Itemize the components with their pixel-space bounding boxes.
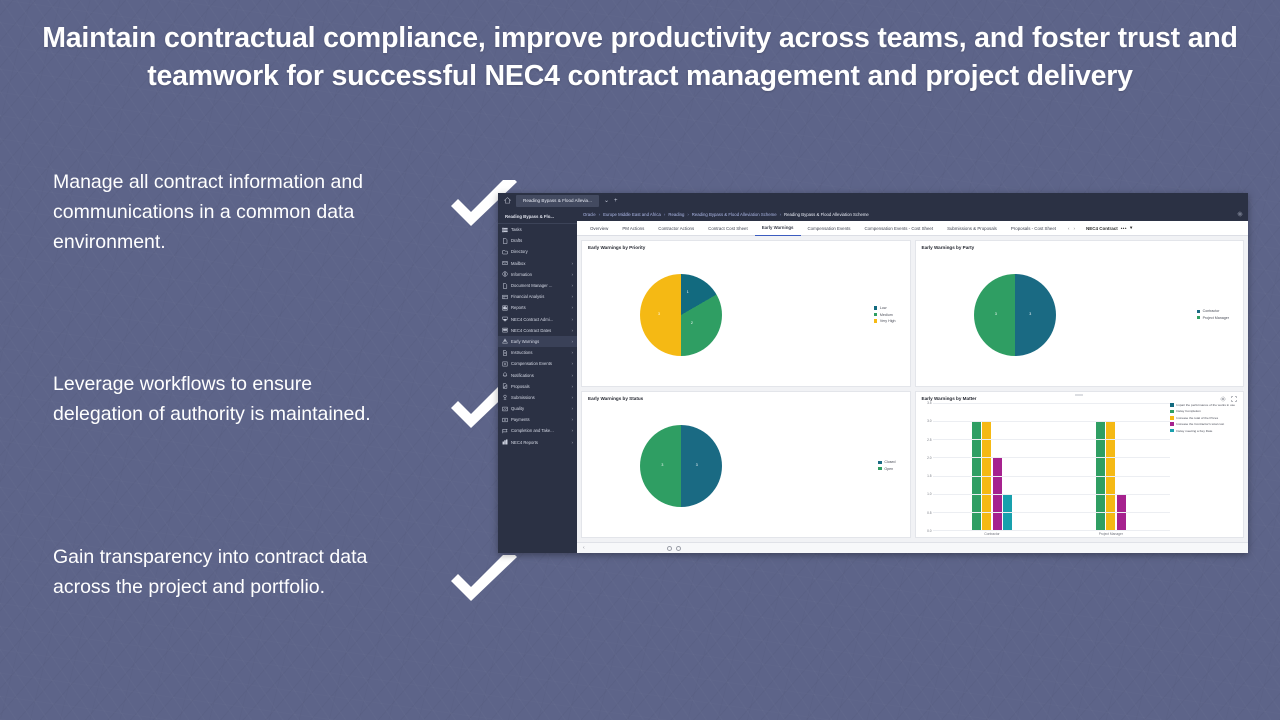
sidebar-item-quality[interactable]: Quality› xyxy=(498,403,577,414)
legend-item[interactable]: Medium xyxy=(874,313,896,317)
legend-swatch xyxy=(878,467,882,471)
bullet-list: Manage all contract information and comm… xyxy=(53,168,473,407)
sidebar-item-label: Completion and Take... xyxy=(511,428,569,433)
legend-label: Project Manager xyxy=(1203,316,1229,320)
gridline xyxy=(933,512,1171,513)
legend-label: Medium xyxy=(880,313,893,317)
chevron-right-icon[interactable]: › xyxy=(572,283,574,288)
sidebar-item-label: Reports xyxy=(511,305,569,310)
legend-swatch xyxy=(874,319,878,323)
collapse-left-icon[interactable]: ‹ xyxy=(583,545,585,551)
home-icon[interactable] xyxy=(504,197,511,204)
breadcrumb-separator: › xyxy=(780,212,781,217)
status-bar-icons xyxy=(667,546,681,551)
gridline xyxy=(933,421,1171,422)
breadcrumb-item-current: Reading Bypass & Flood Alleviation Schem… xyxy=(784,212,869,217)
sidebar-item-label: Directory xyxy=(511,249,573,254)
y-axis-tick: 0.5 xyxy=(927,511,931,515)
legend-swatch xyxy=(874,313,878,317)
sidebar-item-label: Document Manager ... xyxy=(511,283,569,288)
sidebar-item-proposals[interactable]: Proposals› xyxy=(498,381,577,392)
legend-item[interactable]: Delay Completion xyxy=(1170,409,1235,413)
legend-item[interactable]: Closed xyxy=(878,460,895,464)
legend-item[interactable]: Open xyxy=(878,467,895,471)
chevron-right-icon[interactable]: › xyxy=(572,328,574,333)
legend-priority: Low Medium Very High xyxy=(874,306,896,323)
chevron-right-icon[interactable]: › xyxy=(572,305,574,310)
sidebar-item-document-manager[interactable]: Document Manager ...› xyxy=(498,280,577,291)
y-axis: 0.00.51.01.52.02.53.03.5 xyxy=(922,403,933,531)
chevron-right-icon[interactable]: › xyxy=(572,428,574,433)
gear-icon[interactable] xyxy=(1220,396,1226,404)
legend-item[interactable]: Increase the total of the Prices xyxy=(1170,416,1235,420)
chevron-right-icon[interactable]: › xyxy=(572,350,574,355)
legend-label: Low xyxy=(880,306,887,310)
tab-submissions-proposals[interactable]: Submissions & Proposals xyxy=(940,221,1004,236)
gear-icon[interactable] xyxy=(1237,211,1243,217)
legend-label: Open xyxy=(884,467,893,471)
legend-swatch xyxy=(1197,310,1201,314)
sidebar-project[interactable]: Reading Bypass & Flo... xyxy=(498,211,577,224)
legend-swatch xyxy=(1170,403,1174,407)
mailbox-icon xyxy=(502,260,508,266)
legend-label: Delay meeting a Key Date xyxy=(1176,429,1212,433)
sidebar-item-financial-analysis[interactable]: Financial Analysis› xyxy=(498,291,577,302)
list-item: Leverage workflows to ensure delegation … xyxy=(53,370,473,430)
nec4-reports-icon xyxy=(502,439,508,445)
legend-label: Increase the total of the Prices xyxy=(1176,416,1218,420)
y-axis-tick: 3.0 xyxy=(927,419,931,423)
sidebar-item-nec4-reports[interactable]: NEC4 Reports› xyxy=(498,437,577,448)
gridline xyxy=(933,403,1171,404)
sidebar-item-label: NEC4 Contract Dates xyxy=(511,328,569,333)
tab-compensation-events-cost-sheet[interactable]: Compensation Events - Cost Sheet xyxy=(857,221,940,236)
reports-icon xyxy=(502,305,508,311)
sidebar-item-submissions[interactable]: Submissions› xyxy=(498,392,577,403)
tasks-icon xyxy=(502,227,508,233)
tab-proposals-cost-sheet[interactable]: Proposals - Cost Sheet xyxy=(1004,221,1063,236)
expand-icon[interactable] xyxy=(1231,396,1237,404)
card-early-warnings-by-priority: Early Warnings by Priority 1 2 3 Low Med… xyxy=(581,240,911,387)
breadcrumb-item[interactable]: Europe Middle East and Africa xyxy=(603,212,661,217)
card-early-warnings-by-party: Early Warnings by Party 3 3 Contractor P… xyxy=(915,240,1245,387)
sidebar-item-label: Early Warnings xyxy=(511,339,569,344)
sidebar-item-label: Drafts xyxy=(511,238,573,243)
contract-admin-icon xyxy=(502,316,508,322)
chevron-right-icon[interactable]: › xyxy=(572,417,574,422)
pie-slice-label: 2 xyxy=(691,321,693,325)
sidebar-item-label: Mailbox xyxy=(511,261,569,266)
y-axis-tick: 1.0 xyxy=(927,492,931,496)
sidebar-item-label: Compensation Events xyxy=(511,361,569,366)
legend-item[interactable]: Contractor xyxy=(1197,309,1229,313)
breadcrumb-separator: › xyxy=(687,212,688,217)
sidebar-item-payments[interactable]: Payments› xyxy=(498,414,577,425)
chevron-down-icon[interactable]: ⌄ xyxy=(604,198,609,204)
card-early-warnings-by-matter: Early Warnings by Matter 0.00.51.01.52.0… xyxy=(915,391,1245,538)
sidebar-item-notifications[interactable]: Notifications› xyxy=(498,369,577,380)
legend-party: Contractor Project Manager xyxy=(1197,309,1229,319)
y-axis-tick: 0.0 xyxy=(927,529,931,533)
chevron-right-icon[interactable]: › xyxy=(572,361,574,366)
pie-chart-priority[interactable]: 1 2 3 xyxy=(640,274,722,356)
breadcrumb-separator: › xyxy=(664,212,665,217)
information-icon xyxy=(502,271,508,277)
bullet-text: Manage all contract information and comm… xyxy=(53,168,403,257)
application-screenshot: Reading Bypass & Flood Allevia... ⌄ + Re… xyxy=(498,193,1248,553)
legend-item[interactable]: Very High xyxy=(874,319,896,323)
gridline xyxy=(933,476,1171,477)
legend-swatch xyxy=(1170,410,1174,414)
financial-analysis-icon xyxy=(502,294,508,300)
y-axis-tick: 2.0 xyxy=(927,456,931,460)
sidebar-item-label: NEC4 Reports xyxy=(511,440,569,445)
chevron-right-icon[interactable]: › xyxy=(572,440,574,445)
status-bar: ‹ xyxy=(577,542,1248,553)
tab-bar: OverviewPM ActionsContractor ActionsCont… xyxy=(577,221,1248,236)
ellipsis-icon[interactable]: ••• xyxy=(1121,226,1127,231)
legend-swatch xyxy=(1170,422,1174,426)
chevron-right-icon[interactable]: › xyxy=(572,384,574,389)
gridline xyxy=(933,457,1171,458)
chevron-right-icon[interactable]: › xyxy=(572,317,574,322)
sidebar-item-reports[interactable]: Reports› xyxy=(498,302,577,313)
breadcrumb-item[interactable]: Reading xyxy=(668,212,684,217)
tab-early-warnings[interactable]: Early Warnings xyxy=(755,221,801,236)
legend-label: Contractor xyxy=(1203,309,1220,313)
tab-contractor-actions[interactable]: Contractor Actions xyxy=(651,221,701,236)
legend-swatch xyxy=(1197,316,1201,320)
quality-icon xyxy=(502,406,508,412)
legend-label: Increase the Contractor's total cost xyxy=(1176,422,1224,426)
document-manager-icon xyxy=(502,283,508,289)
compensation-events-icon xyxy=(502,361,508,367)
drafts-icon xyxy=(502,238,508,244)
gridline xyxy=(933,439,1171,440)
chevron-right-icon[interactable]: › xyxy=(572,339,574,344)
slide-title: Maintain contractual compliance, improve… xyxy=(24,20,1256,95)
sidebar-item-label: Proposals xyxy=(511,384,569,389)
browser-tab-bar: Reading Bypass & Flood Allevia... ⌄ + xyxy=(498,193,1248,208)
legend-swatch xyxy=(874,306,878,310)
pie-slice-label: 3 xyxy=(1029,312,1031,316)
pie-chart-status[interactable]: 3 3 xyxy=(640,425,722,507)
sidebar-item-nec4-contract-dates[interactable]: NEC4 Contract Dates› xyxy=(498,325,577,336)
bar-chart-matter[interactable]: 0.00.51.01.52.02.53.03.5 ContractorProje… xyxy=(922,403,1171,531)
legend-label: Closed xyxy=(884,460,895,464)
legend-item[interactable]: Increase the Contractor's total cost xyxy=(1170,422,1235,426)
gridline xyxy=(933,530,1171,531)
notifications-icon xyxy=(502,372,508,378)
list-item: Gain transparency into contract data acr… xyxy=(53,543,473,603)
card-title: Early Warnings by Matter xyxy=(922,396,1238,401)
content-area: Oracle › Europe Middle East and Africa ›… xyxy=(577,208,1248,553)
legend-label: Delay Completion xyxy=(1176,409,1200,413)
pie-chart-party[interactable]: 3 3 xyxy=(974,274,1056,356)
pie-slice-label: 3 xyxy=(658,312,660,316)
proposals-icon xyxy=(502,383,508,389)
pie-slice-label: 1 xyxy=(687,290,689,294)
sidebar-item-mailbox[interactable]: Mailbox› xyxy=(498,258,577,269)
legend-status: Closed Open xyxy=(878,460,895,470)
chevron-right-icon[interactable]: › xyxy=(572,373,574,378)
breadcrumb-separator: › xyxy=(599,212,600,217)
submissions-icon xyxy=(502,394,508,400)
legend-swatch xyxy=(1170,429,1174,433)
check-icon xyxy=(447,555,521,607)
bullet-text: Leverage workflows to ensure delegation … xyxy=(53,370,403,430)
legend-label: Very High xyxy=(880,319,896,323)
directory-icon xyxy=(502,249,508,255)
legend-item[interactable]: Project Manager xyxy=(1197,316,1229,320)
caret-down-icon[interactable]: ▾ xyxy=(1130,225,1132,231)
chevron-right-icon[interactable]: › xyxy=(572,406,574,411)
plus-icon[interactable]: + xyxy=(614,198,618,204)
chevron-right-icon[interactable]: › xyxy=(1073,226,1074,231)
card-early-warnings-by-status: Early Warnings by Status 3 3 Closed Open xyxy=(581,391,911,538)
sidebar-item-tasks[interactable]: Tasks xyxy=(498,224,577,235)
chevron-right-icon[interactable]: › xyxy=(572,261,574,266)
legend-matter: Impair the performance of the works in u… xyxy=(1170,403,1235,531)
tab-compensation-events[interactable]: Compensation Events xyxy=(801,221,858,236)
sidebar-item-label: Notifications xyxy=(511,373,569,378)
circle-icon[interactable] xyxy=(667,546,672,551)
list-item: Manage all contract information and comm… xyxy=(53,168,473,257)
browser-tab[interactable]: Reading Bypass & Flood Allevia... xyxy=(516,195,599,207)
pie-slice-label: 3 xyxy=(661,463,663,467)
x-axis-label: Contractor xyxy=(933,532,1052,536)
sidebar-item-drafts[interactable]: Drafts xyxy=(498,235,577,246)
chevron-left-icon[interactable]: ‹ xyxy=(1068,226,1069,231)
payments-icon xyxy=(502,417,508,423)
sidebar-item-label: Tasks xyxy=(511,227,573,232)
legend-swatch xyxy=(1170,416,1174,420)
y-axis-tick: 3.5 xyxy=(927,401,931,405)
sidebar-item-label: Financial Analysis xyxy=(511,294,569,299)
tab-pm-actions[interactable]: PM Actions xyxy=(615,221,651,236)
y-axis-tick: 1.5 xyxy=(927,474,931,478)
contract-selector-label: NEC4 Contract xyxy=(1086,226,1118,231)
sidebar-item-label: Quality xyxy=(511,406,569,411)
dashboard-grid: Early Warnings by Priority 1 2 3 Low Med… xyxy=(577,236,1248,542)
early-warnings-icon xyxy=(502,338,508,344)
pie-slice-label: 3 xyxy=(995,312,997,316)
chevron-right-icon[interactable]: › xyxy=(572,272,574,277)
sidebar-item-compensation-events[interactable]: Compensation Events› xyxy=(498,358,577,369)
sidebar-item-completion-and-take[interactable]: Completion and Take...› xyxy=(498,425,577,436)
card-tools xyxy=(1220,396,1237,404)
contract-selector[interactable]: NEC4 Contract ••• ▾ xyxy=(1086,225,1132,231)
sidebar-item-label: Payments xyxy=(511,417,569,422)
x-axis-label: Project Manager xyxy=(1051,532,1170,536)
breadcrumb: Oracle › Europe Middle East and Africa ›… xyxy=(577,208,1248,221)
legend-item[interactable]: Delay meeting a Key Date xyxy=(1170,429,1235,433)
sidebar-item-early-warnings[interactable]: Early Warnings› xyxy=(498,336,577,347)
chevron-right-icon[interactable]: › xyxy=(572,294,574,299)
bullet-text: Gain transparency into contract data acr… xyxy=(53,543,403,603)
sidebar: Reading Bypass & Flo... TasksDraftsDirec… xyxy=(498,208,577,553)
sidebar-item-label: Information xyxy=(511,272,569,277)
sidebar-item-label: Instructions xyxy=(511,350,569,355)
circle-icon[interactable] xyxy=(676,546,681,551)
sidebar-item-label: NEC4 Contract Admi... xyxy=(511,317,569,322)
sidebar-project-label: Reading Bypass & Flo... xyxy=(505,214,554,219)
y-axis-tick: 2.5 xyxy=(927,438,931,442)
instructions-icon xyxy=(502,350,508,356)
sidebar-item-nec4-contract-admi[interactable]: NEC4 Contract Admi...› xyxy=(498,314,577,325)
completion-icon xyxy=(502,428,508,434)
drag-grip-icon[interactable] xyxy=(1075,394,1083,396)
contract-dates-icon xyxy=(502,327,508,333)
sidebar-item-instructions[interactable]: Instructions› xyxy=(498,347,577,358)
plot-area: ContractorProject Manager xyxy=(933,403,1171,531)
tab-overview[interactable]: Overview xyxy=(583,221,615,236)
gridline xyxy=(933,494,1171,495)
tab-nav: ‹ › xyxy=(1063,226,1080,231)
tab-contract-cost-sheet[interactable]: Contract Cost Sheet xyxy=(701,221,755,236)
pie-slice-label: 3 xyxy=(696,463,698,467)
sidebar-item-label: Submissions xyxy=(511,395,569,400)
breadcrumb-item[interactable]: Reading Bypass & Flood Alleviation Schem… xyxy=(692,212,777,217)
sidebar-item-information[interactable]: Information› xyxy=(498,269,577,280)
legend-swatch xyxy=(878,461,882,465)
breadcrumb-item[interactable]: Oracle xyxy=(583,212,596,217)
sidebar-item-directory[interactable]: Directory xyxy=(498,246,577,257)
legend-item[interactable]: Low xyxy=(874,306,896,310)
chevron-right-icon[interactable]: › xyxy=(572,395,574,400)
